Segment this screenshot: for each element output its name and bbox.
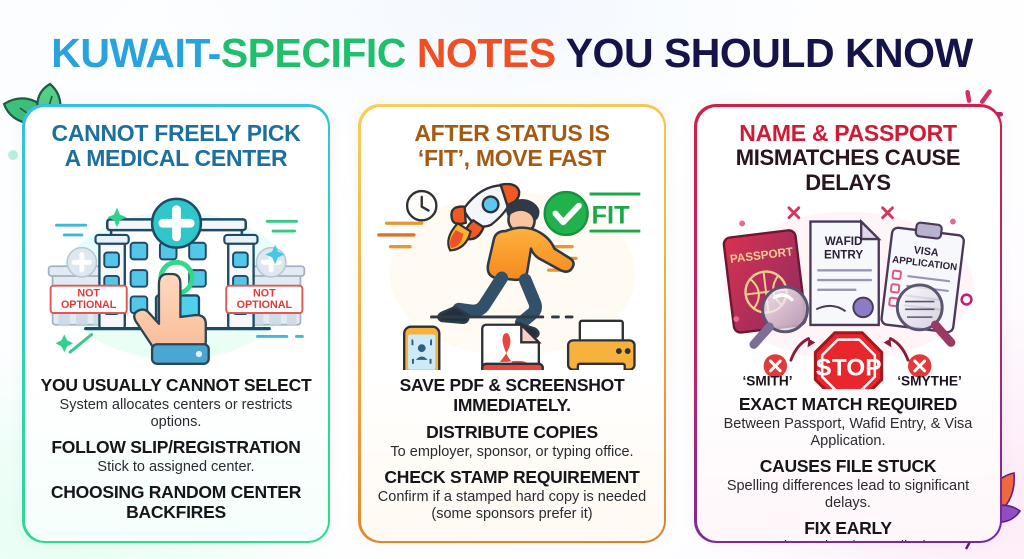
tip-sub: Contact the registering medical center (713, 539, 984, 540)
svg-text:‘SMITH’: ‘SMITH’ (742, 373, 792, 388)
card-2-heading-line2: ‘FIT’, MOVE FAST (414, 146, 609, 172)
card-1-heading-line2: A MEDICAL CENTER (52, 146, 301, 172)
svg-text:‘SMYTHE’: ‘SMYTHE’ (897, 373, 962, 388)
tip-item: CHECK STAMP REQUIREMENT Confirm if a sta… (377, 468, 648, 523)
card-2-heading-line1: AFTER STATUS IS (414, 121, 609, 147)
tip-item: DISTRIBUTE COPIES To employer, sponsor, … (377, 423, 648, 461)
tip-heading: FOLLOW SLIP/REGISTRATION (41, 438, 312, 458)
tip-item: CAUSES FILE STUCK Spelling differences l… (713, 457, 984, 512)
svg-text:NOT: NOT (253, 287, 276, 299)
title-part-specific: SPECIFIC (221, 30, 417, 76)
tip-sub: Between Passport, Wafid Entry, & Visa Ap… (713, 416, 984, 450)
tip-item: CHOOSING RANDOM CENTER BACKFIRES (41, 483, 312, 523)
infographic-page: KUWAIT-SPECIFIC NOTES YOU SHOULD KNOW (0, 0, 1024, 559)
tip-sub: Spelling differences lead to significant… (713, 478, 984, 512)
card-3-heading: NAME & PASSPORT MISMATCHES CAUSE DELAYS (707, 121, 990, 196)
hospital-not-optional-illustration: NOT OPTIONAL NOT OPTIONAL (35, 178, 318, 370)
tip-item: SAVE PDF & SCREENSHOT IMMEDIATELY. (377, 376, 648, 416)
title-part-kuwait: KUWAIT- (51, 30, 221, 76)
tip-item: FOLLOW SLIP/REGISTRATION Stick to assign… (41, 438, 312, 476)
card-name-passport[interactable]: NAME & PASSPORT MISMATCHES CAUSE DELAYS (694, 104, 1002, 543)
card-2-tips: SAVE PDF & SCREENSHOT IMMEDIATELY. DISTR… (371, 376, 654, 531)
dot-decoration (8, 150, 18, 160)
tip-sub: To employer, sponsor, or typing office. (377, 444, 648, 461)
tip-sub: Confirm if a stamped hard copy is needed… (377, 489, 648, 523)
title-part-tail: YOU SHOULD KNOW (566, 30, 973, 76)
passport-mismatch-stop-illustration: PASSPORT WAFID ENTRY (707, 202, 990, 389)
tip-heading: CHECK STAMP REQUIREMENT (377, 468, 648, 488)
tip-sub: System allocates centers or restricts op… (41, 397, 312, 431)
tip-item: FIX EARLY Contact the registering medica… (713, 519, 984, 541)
svg-text:OPTIONAL: OPTIONAL (60, 299, 116, 311)
card-2-heading: AFTER STATUS IS ‘FIT’, MOVE FAST (414, 121, 609, 173)
tip-sub: Stick to assigned center. (41, 459, 312, 476)
tip-item: YOU USUALLY CANNOT SELECT System allocat… (41, 376, 312, 431)
cards-row: CANNOT FREELY PICK A MEDICAL CENTER (22, 104, 1002, 543)
svg-text:PDF: PDF (496, 368, 527, 370)
svg-text:ENTRY: ENTRY (824, 248, 863, 261)
tip-heading: SAVE PDF & SCREENSHOT IMMEDIATELY. (377, 376, 648, 416)
card-move-fast[interactable]: AFTER STATUS IS ‘FIT’, MOVE FAST (358, 104, 666, 543)
title-part-notes: NOTES (417, 30, 566, 76)
runner-rocket-fit-illustration: FIT (371, 178, 654, 370)
card-1-heading-line1: CANNOT FREELY PICK (52, 121, 301, 147)
card-medical-center[interactable]: CANNOT FREELY PICK A MEDICAL CENTER (22, 104, 330, 543)
svg-text:OPTIONAL: OPTIONAL (236, 299, 292, 311)
tip-heading: FIX EARLY (713, 519, 984, 539)
page-title: KUWAIT-SPECIFIC NOTES YOU SHOULD KNOW (0, 30, 1024, 77)
tip-heading: YOU USUALLY CANNOT SELECT (41, 376, 312, 396)
card-3-tips: EXACT MATCH REQUIRED Between Passport, W… (707, 395, 990, 541)
card-3-heading-line2: MISMATCHES CAUSE DELAYS (707, 146, 990, 195)
svg-text:WAFID: WAFID (824, 234, 862, 247)
tip-heading: EXACT MATCH REQUIRED (713, 395, 984, 415)
svg-text:STOP: STOP (815, 354, 881, 381)
svg-text:NOT: NOT (77, 287, 100, 299)
card-1-heading: CANNOT FREELY PICK A MEDICAL CENTER (52, 121, 301, 173)
tip-item: EXACT MATCH REQUIRED Between Passport, W… (713, 395, 984, 450)
tip-heading: CHOOSING RANDOM CENTER BACKFIRES (41, 483, 312, 523)
card-3-heading-line1: NAME & PASSPORT (707, 121, 990, 147)
card-1-tips: YOU USUALLY CANNOT SELECT System allocat… (35, 376, 318, 531)
tip-heading: DISTRIBUTE COPIES (377, 423, 648, 443)
tip-heading: CAUSES FILE STUCK (713, 457, 984, 477)
svg-text:FIT: FIT (591, 201, 630, 229)
